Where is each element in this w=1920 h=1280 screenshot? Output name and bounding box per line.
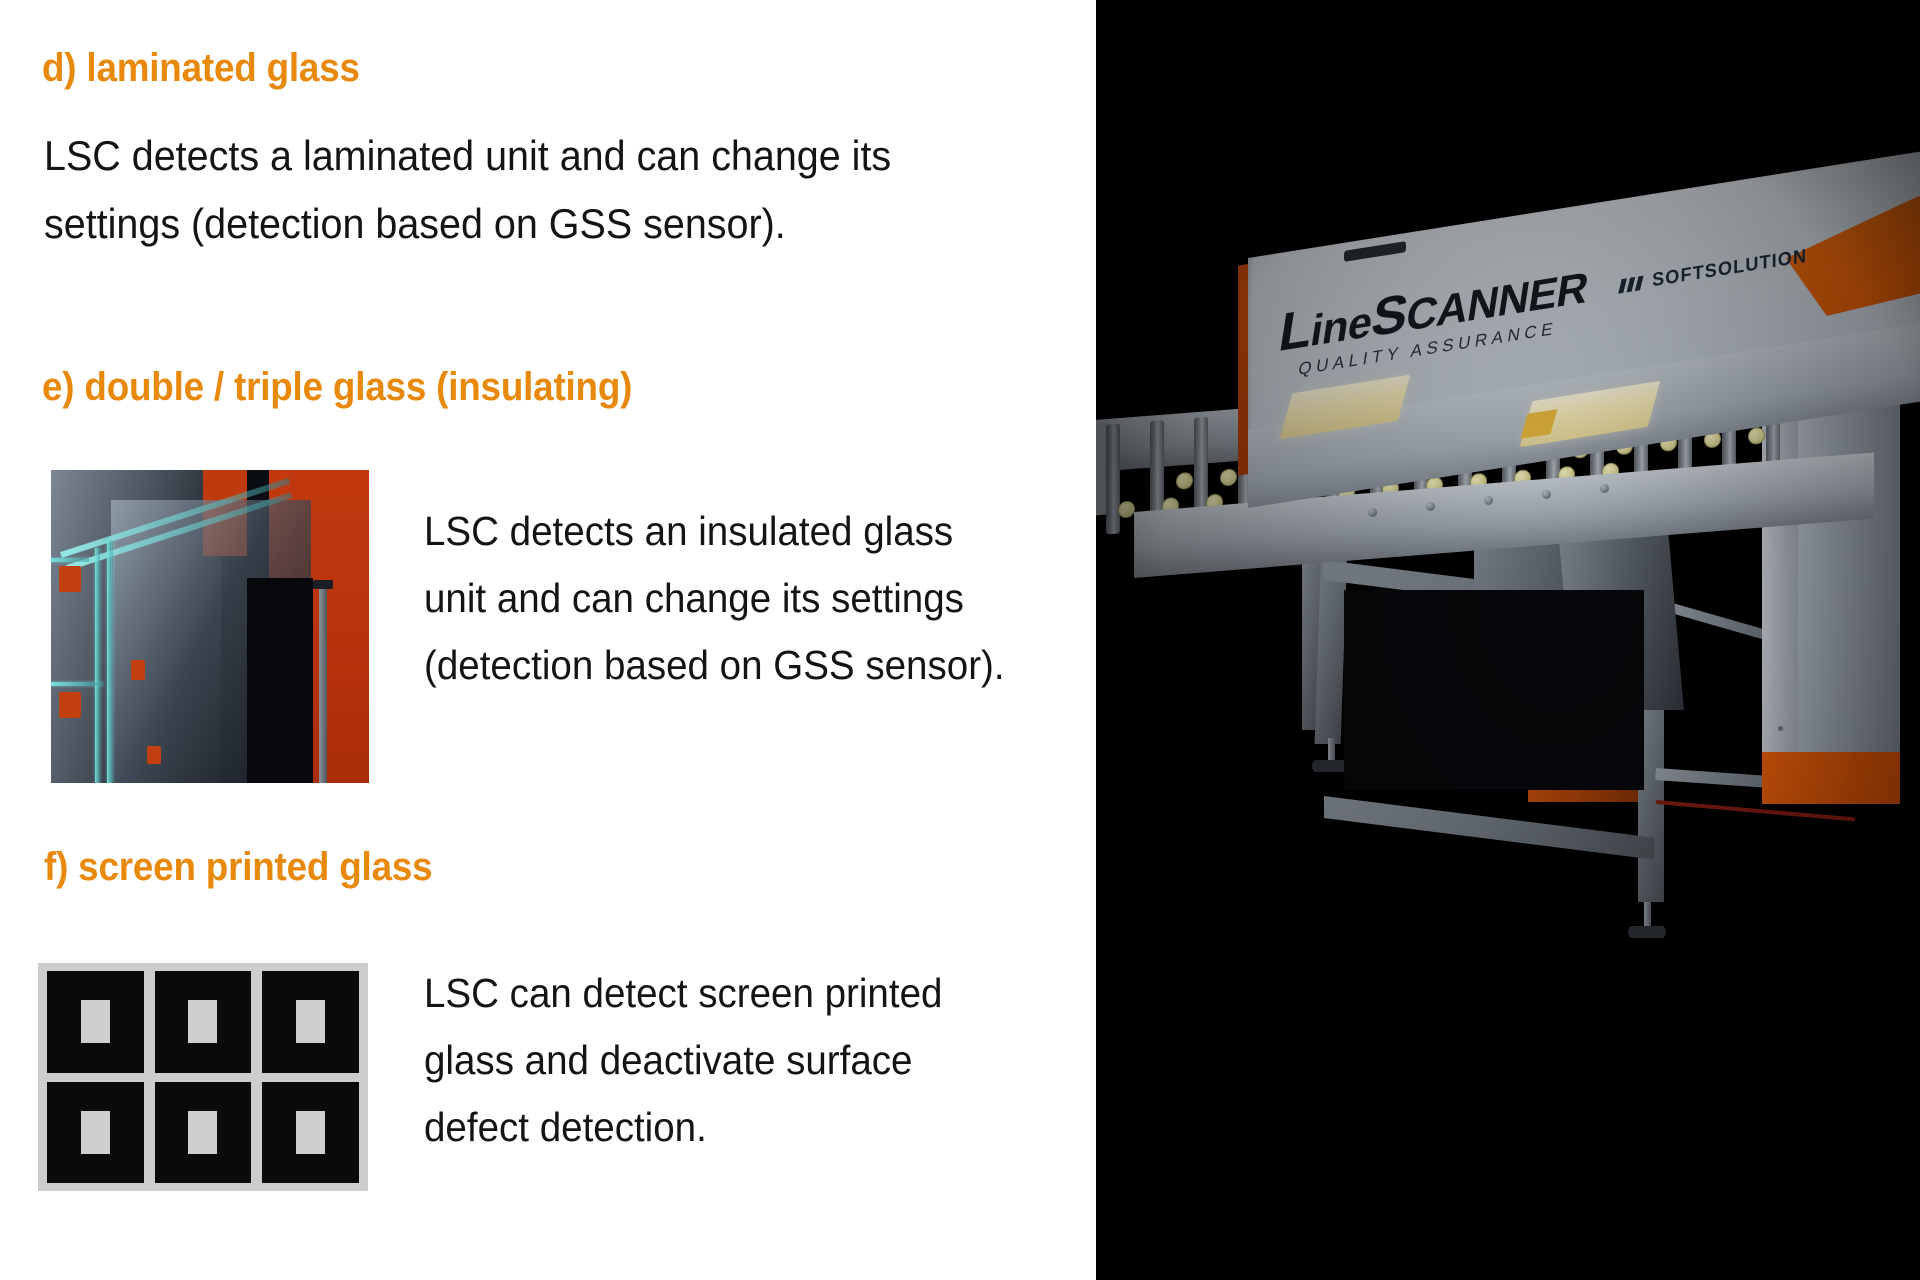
screen-printed-glass-pattern [38,963,368,1191]
content-panel: d) laminated glass LSC detects a laminat… [0,0,1096,1280]
section-heading-laminated-glass: d) laminated glass [42,46,360,91]
rail-roller-screw [1542,490,1551,499]
roller-disc [1220,468,1237,486]
cabinet-screw-bottom [1778,726,1783,731]
rail-roller-screw [1368,508,1377,517]
under-deck-shadow [1344,590,1644,790]
frame-foot-right [1628,926,1666,938]
roller-disc [1748,427,1765,445]
rail-roller-screw [1484,496,1493,505]
igu-glass-pane-2 [107,540,113,783]
rail-roller-screw [1426,502,1435,511]
linescanner-wordmark-ine: ine [1307,297,1375,356]
screenprint-cell [47,1082,144,1184]
roller-disc [1176,472,1193,490]
igu-clamp-3 [131,660,145,680]
screenprint-cell [155,1082,252,1184]
igu-vertical-post [319,588,327,783]
section-body-double-triple-glass: LSC detects an insulated glass unit and … [424,498,1026,699]
screenprint-cell-window [188,1111,217,1154]
screenprint-cell [262,1082,359,1184]
screenprint-cell-window [81,1111,110,1154]
screenprint-cell [262,971,359,1073]
screenprint-cell [155,971,252,1073]
frame-foot-stem-right [1644,902,1651,928]
igu-clamp-1 [59,566,81,592]
roller-disc [1118,500,1135,518]
slide-root: d) laminated glass LSC detects a laminat… [0,0,1920,1280]
igu-glass-streak-1 [51,682,103,686]
igu-glass-pane-1 [95,548,100,783]
screenprint-cell [47,971,144,1073]
section-body-screen-printed-glass: LSC can detect screen printed glass and … [424,960,997,1161]
igu-glass-streak-2 [51,558,89,562]
screenprint-cell-window [296,1000,325,1043]
igu-dark-block [247,578,313,783]
section-heading-screen-printed-glass: f) screen printed glass [44,845,432,890]
section-heading-double-triple-glass: e) double / triple glass (insulating) [42,365,632,410]
igu-post-cap [313,580,333,589]
insulating-glass-unit-photo [51,470,369,783]
frame-cross-beam-bottom [1324,796,1654,860]
machine-cabinet-base-orange [1762,752,1900,804]
section-body-laminated-glass: LSC detects a laminated unit and can cha… [44,122,1012,258]
screenprint-cell-window [188,1000,217,1043]
rail-roller-screw [1600,484,1609,493]
screenprint-cell-window [296,1111,325,1154]
machine-photo-panel: SOFTSOLUTION LineSCANNER QUALITY ASSURAN… [1096,0,1920,1280]
softsolution-logo-mark-icon [1616,275,1645,294]
igu-clamp-4 [147,746,161,764]
screenprint-cell-window [81,1000,110,1043]
igu-clamp-2 [59,692,81,718]
